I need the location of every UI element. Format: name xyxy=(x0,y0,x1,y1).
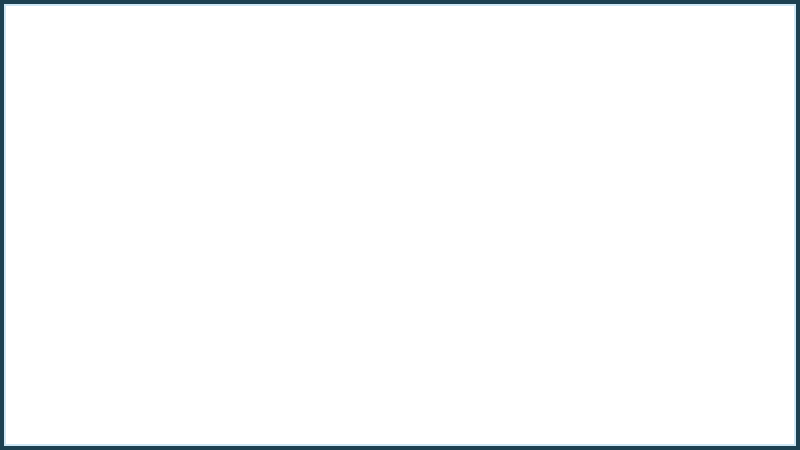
chart-card: Global Poultry Farming Equipment Market … xyxy=(0,0,800,450)
card-inner-border xyxy=(4,4,796,446)
